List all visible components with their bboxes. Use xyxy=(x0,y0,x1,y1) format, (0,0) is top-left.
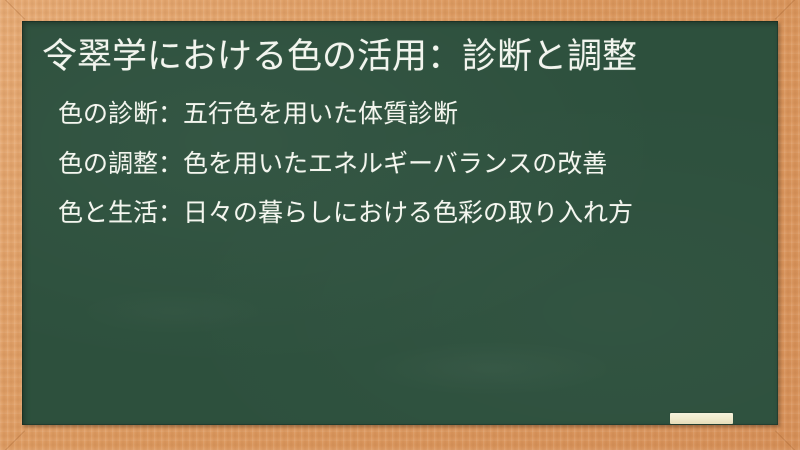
page-title: 令翠学における色の活用：診断と調整 xyxy=(42,37,760,78)
chalkboard-slide: 令翠学における色の活用：診断と調整 色の診断：五行色を用いた体質診断 色の調整：… xyxy=(0,0,800,450)
chalkboard-surface: 令翠学における色の活用：診断と調整 色の診断：五行色を用いた体質診断 色の調整：… xyxy=(22,21,778,425)
slide-content: 令翠学における色の活用：診断と調整 色の診断：五行色を用いた体質診断 色の調整：… xyxy=(22,21,778,425)
bullet-list: 色の診断：五行色を用いた体質診断 色の調整：色を用いたエネルギーバランスの改善 … xyxy=(58,96,760,231)
list-item: 色と生活：日々の暮らしにおける色彩の取り入れ方 xyxy=(58,195,758,231)
list-item: 色の調整：色を用いたエネルギーバランスの改善 xyxy=(58,146,758,182)
list-item: 色の診断：五行色を用いた体質診断 xyxy=(58,96,758,132)
chalk-stick-icon xyxy=(670,413,733,424)
